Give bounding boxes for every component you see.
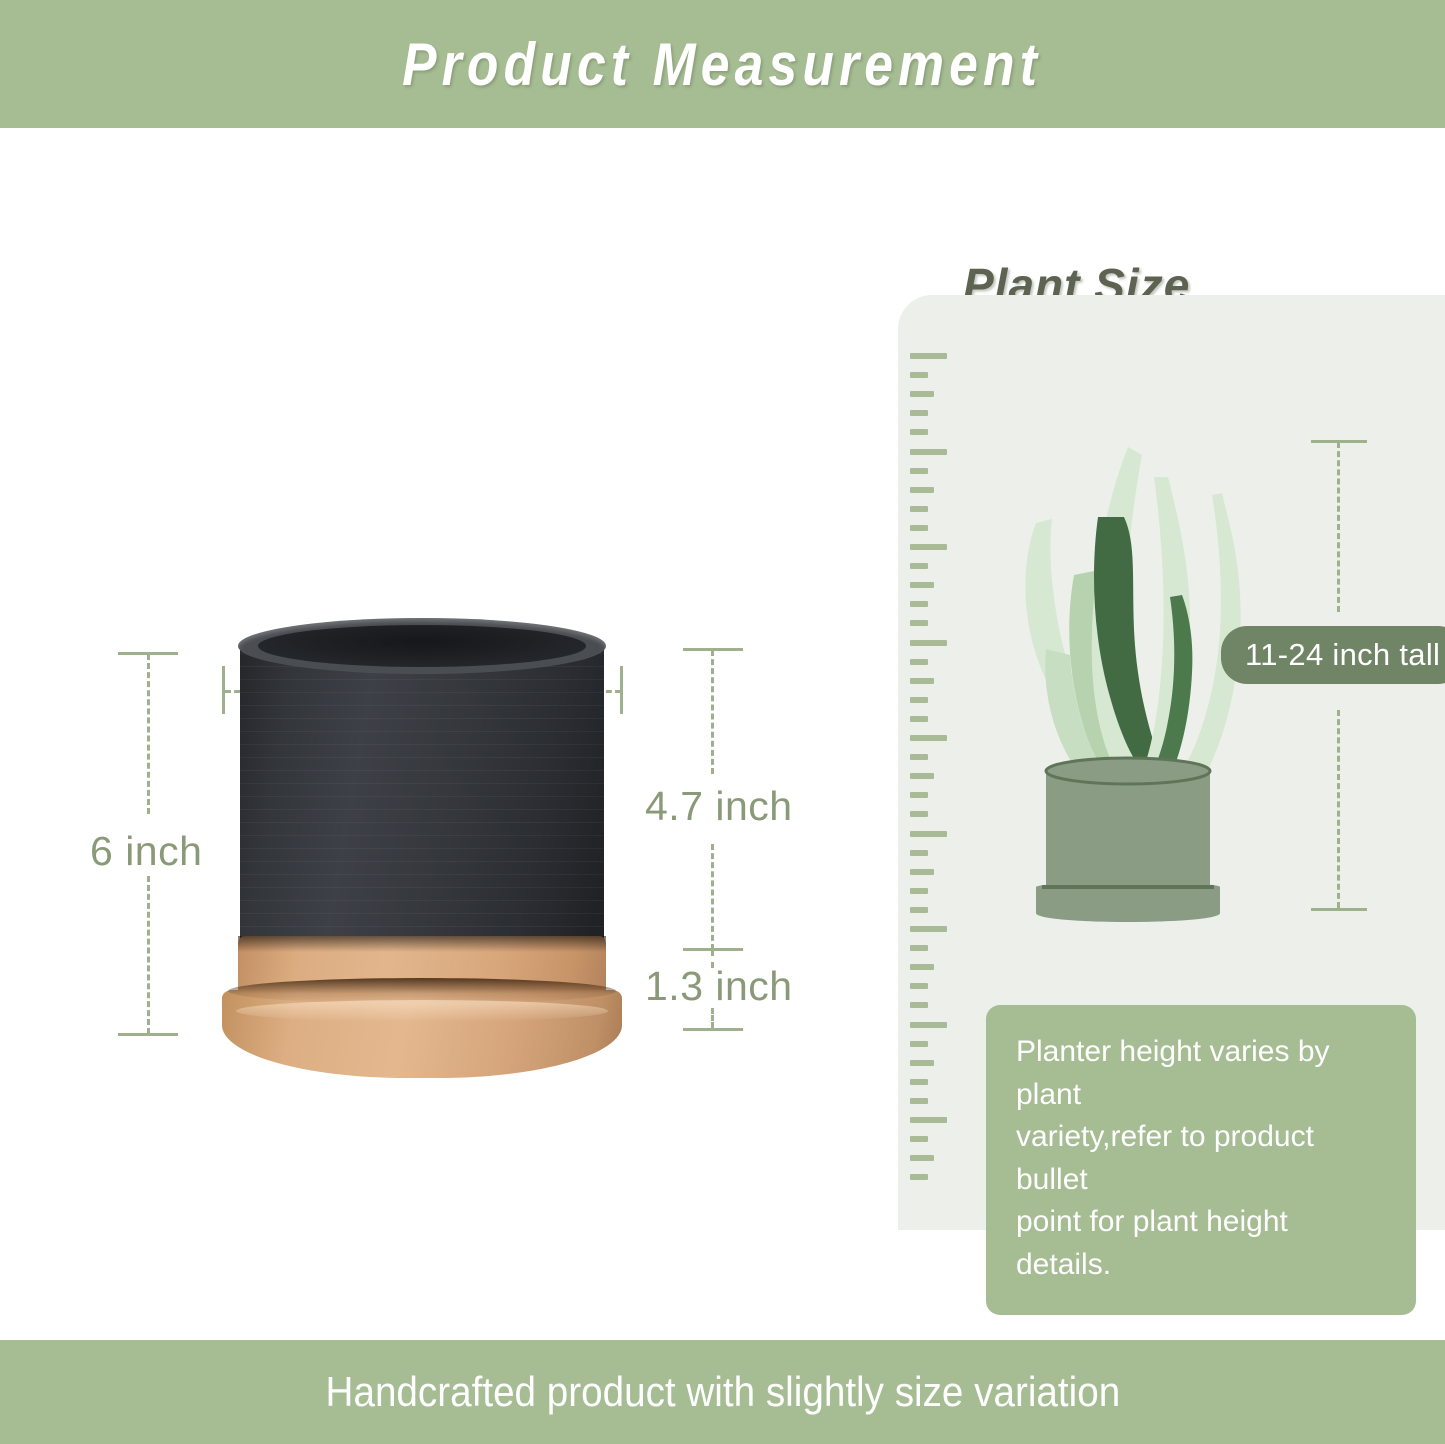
ruler xyxy=(910,353,990,1183)
plant-height-badge: 11-24 inch tall xyxy=(1221,626,1445,684)
ruler-tick-minor xyxy=(910,964,934,970)
plant-height-line-top xyxy=(1337,442,1340,612)
plant-height-dimension: 11-24 inch tall xyxy=(1311,440,1431,910)
planter-body xyxy=(240,640,604,960)
planter-saucer-highlight xyxy=(236,1000,608,1022)
ruler-tick-minor xyxy=(910,1136,928,1142)
plant-height-note-text: Planter height varies by plant variety,r… xyxy=(1016,1031,1386,1287)
dimension-height-label: 6 inch xyxy=(90,828,202,875)
ruler-tick-minor xyxy=(910,678,934,684)
ruler-tick-minor xyxy=(910,506,928,512)
ruler-tick-minor xyxy=(910,869,934,875)
ruler-tick-minor xyxy=(910,525,928,531)
ruler-tick-minor xyxy=(910,697,928,703)
ruler-tick-minor xyxy=(910,754,928,760)
plant-height-line-bottom xyxy=(1337,710,1340,908)
ruler-tick-minor xyxy=(910,792,928,798)
planter-interior xyxy=(258,625,586,667)
ruler-tick-minor xyxy=(910,1174,928,1180)
ruler-tick-minor xyxy=(910,659,928,665)
plant-height-note-box: Planter height varies by plant variety,r… xyxy=(986,1005,1416,1315)
ruler-tick-major xyxy=(910,735,947,741)
ruler-tick-minor xyxy=(910,850,928,856)
dimension-pot-height-label: 4.7 inch xyxy=(645,783,793,830)
plant-height-cap-bottom xyxy=(1311,908,1367,911)
ruler-tick-minor xyxy=(910,429,928,435)
ruler-tick-minor xyxy=(910,582,934,588)
planter-product-image xyxy=(222,618,622,1078)
ruler-tick-minor xyxy=(910,391,934,397)
product-photo-section: 6 inch 6 inch 4.7 inch 1.3 inch xyxy=(0,128,890,1340)
ruler-tick-minor xyxy=(910,907,928,913)
ruler-tick-minor xyxy=(910,1155,934,1161)
ruler-tick-major xyxy=(910,831,947,837)
footer-text: Handcrafted product with slightly size v… xyxy=(325,1368,1120,1416)
ruler-tick-major xyxy=(910,926,947,932)
dimension-saucer-height-line-bottom xyxy=(711,1008,714,1028)
ruler-tick-minor xyxy=(910,811,928,817)
snake-plant-illustration xyxy=(998,425,1258,945)
ruler-tick-major xyxy=(910,544,947,550)
dimension-saucer-height-label: 1.3 inch xyxy=(645,963,793,1010)
dimension-pot-height-line-top xyxy=(711,650,714,774)
top-banner: Product Measurement xyxy=(0,0,1445,128)
ruler-tick-minor xyxy=(910,468,928,474)
ruler-tick-minor xyxy=(910,716,928,722)
ruler-tick-minor xyxy=(910,983,928,989)
ruler-tick-major xyxy=(910,640,947,646)
ruler-tick-minor xyxy=(910,487,934,493)
dimension-pot-height-line-bottom xyxy=(711,844,714,950)
ruler-tick-major xyxy=(910,1022,947,1028)
ruler-tick-minor xyxy=(910,945,928,951)
ruler-tick-minor xyxy=(910,410,928,416)
dimension-height-line-top xyxy=(147,654,150,814)
ruler-tick-minor xyxy=(910,563,928,569)
ruler-tick-minor xyxy=(910,620,928,626)
dimension-height-line-bottom xyxy=(147,876,150,1034)
planter-base-shadow xyxy=(238,936,606,952)
ruler-tick-minor xyxy=(910,773,934,779)
ruler-tick-minor xyxy=(910,372,928,378)
illustrated-pot-rim xyxy=(1046,758,1210,784)
ruler-tick-minor xyxy=(910,601,928,607)
ruler-tick-major xyxy=(910,449,947,455)
ruler-tick-minor xyxy=(910,1079,928,1085)
ruler-tick-major xyxy=(910,1117,947,1123)
ruler-tick-minor xyxy=(910,888,928,894)
ruler-tick-minor xyxy=(910,1002,928,1008)
bottom-banner: Handcrafted product with slightly size v… xyxy=(0,1340,1445,1444)
dimension-saucer-height-cap-bottom xyxy=(683,1028,743,1031)
ruler-tick-minor xyxy=(910,1060,934,1066)
ruler-tick-major xyxy=(910,353,947,359)
ruler-tick-minor xyxy=(910,1041,928,1047)
ruler-tick-minor xyxy=(910,1098,928,1104)
page-title: Product Measurement xyxy=(403,30,1043,99)
